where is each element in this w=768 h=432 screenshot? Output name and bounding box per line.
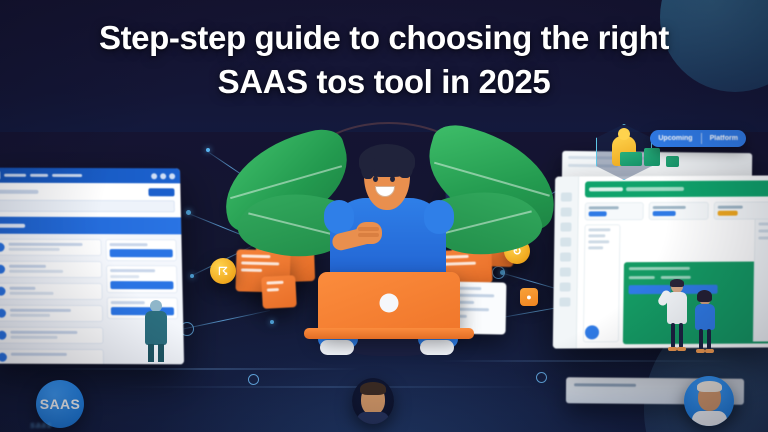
section-header [0, 217, 181, 235]
left-dashboard-toolbar [0, 183, 181, 218]
network-ring [536, 372, 547, 383]
banner-canvas: Upcoming Platform [0, 0, 768, 432]
avatar-hair [360, 382, 386, 395]
stat-card[interactable] [649, 202, 709, 220]
left-subpanel [583, 224, 621, 342]
list-item[interactable] [0, 327, 103, 344]
character-shoe [320, 340, 354, 355]
character-eye [373, 176, 378, 182]
avatar-shoulders [692, 411, 727, 426]
navbar-actions [151, 173, 175, 179]
nav-item[interactable] [4, 174, 26, 177]
pill-toggle-button[interactable]: Upcoming Platform [650, 130, 746, 147]
bell-icon[interactable] [151, 173, 157, 179]
list-item[interactable] [0, 283, 102, 300]
character-hair [359, 144, 415, 177]
item-text [10, 309, 98, 317]
presenter-figure [664, 280, 690, 354]
section-title [0, 223, 25, 227]
list-item[interactable] [0, 239, 101, 256]
new-button[interactable] [148, 188, 174, 196]
user-avatar-right[interactable] [684, 376, 734, 426]
seated-person-with-laptop [296, 126, 482, 376]
item-icon [0, 287, 6, 296]
floor-streak [120, 386, 540, 388]
character-sleeve [424, 200, 454, 234]
character-hand [356, 222, 382, 244]
item-text [11, 353, 99, 356]
character-shoe [420, 340, 454, 355]
watermark-text: saas [30, 420, 52, 430]
network-node [270, 320, 274, 324]
right-dashboard-window[interactable] [553, 175, 768, 348]
user-avatar-center[interactable] [352, 378, 394, 424]
side-card-button[interactable] [109, 249, 173, 257]
item-icon [0, 265, 5, 274]
saas-badge-label: SAAS [40, 396, 81, 412]
stat-cards [579, 196, 768, 225]
list-item[interactable] [0, 305, 103, 322]
item-icon [0, 331, 7, 340]
character-brow [371, 170, 379, 172]
green-box-decoration [666, 156, 679, 167]
side-card[interactable] [105, 239, 177, 261]
tag-icon[interactable] [560, 282, 571, 291]
task-card[interactable] [261, 275, 297, 309]
mail-icon[interactable] [560, 252, 571, 261]
item-icon [0, 243, 5, 252]
character-eye [390, 176, 395, 182]
gear-icon[interactable] [559, 297, 570, 306]
stat-card[interactable] [585, 202, 645, 220]
item-text [9, 265, 97, 273]
list-item[interactable] [0, 261, 102, 278]
character-head [358, 144, 416, 210]
item-text [8, 243, 96, 251]
network-ring [492, 266, 505, 279]
right-dashboard-sidebar [553, 176, 579, 348]
calendar-icon[interactable] [560, 237, 571, 246]
item-text [9, 287, 97, 295]
green-box-decoration [644, 148, 660, 166]
network-node [190, 274, 194, 278]
item-icon [0, 353, 7, 362]
avatar-hair [697, 381, 722, 392]
nav-item[interactable] [52, 174, 82, 177]
network-node [206, 148, 210, 152]
network-ring [248, 374, 259, 385]
users-icon[interactable] [560, 223, 571, 232]
avatar-shoulders [357, 412, 389, 424]
character-brow [389, 170, 397, 172]
avatar-icon[interactable] [169, 173, 175, 179]
network-node [186, 210, 191, 215]
nav-item[interactable] [30, 174, 48, 177]
list-item[interactable] [0, 349, 104, 365]
stat-card[interactable] [713, 201, 768, 219]
green-box-decoration [620, 152, 642, 166]
item-icon [0, 309, 6, 318]
work-item-list [0, 239, 104, 365]
laptop-logo-icon [380, 294, 399, 313]
laptop [318, 272, 460, 334]
title-line-1: Step-step guide to choosing the right [99, 19, 669, 56]
character-sleeve [324, 200, 354, 234]
side-card-button[interactable] [110, 281, 174, 289]
page-title: Step-step guide to choosing the right SA… [0, 16, 768, 104]
page-title [0, 190, 38, 194]
left-dashboard-navbar [0, 168, 180, 184]
left-teal-figure [143, 300, 169, 364]
attendee-figure [692, 292, 718, 356]
home-icon[interactable] [561, 193, 572, 202]
search-input[interactable] [0, 200, 175, 213]
title-line-2: SAAS tos tool in 2025 [34, 60, 734, 104]
folder-icon[interactable] [560, 267, 571, 276]
chart-icon[interactable] [561, 208, 572, 217]
right-subpanel [753, 219, 768, 341]
pill-secondary-label[interactable]: Platform [702, 135, 746, 142]
right-dashboard-header [585, 180, 768, 197]
item-text [10, 331, 98, 339]
side-card[interactable] [106, 265, 178, 293]
help-icon[interactable] [160, 173, 166, 179]
bell-icon: ● [520, 288, 538, 306]
laptop-base [304, 328, 474, 339]
pill-primary-label[interactable]: Upcoming [650, 135, 700, 142]
share-network-icon: ☈ [210, 258, 236, 284]
